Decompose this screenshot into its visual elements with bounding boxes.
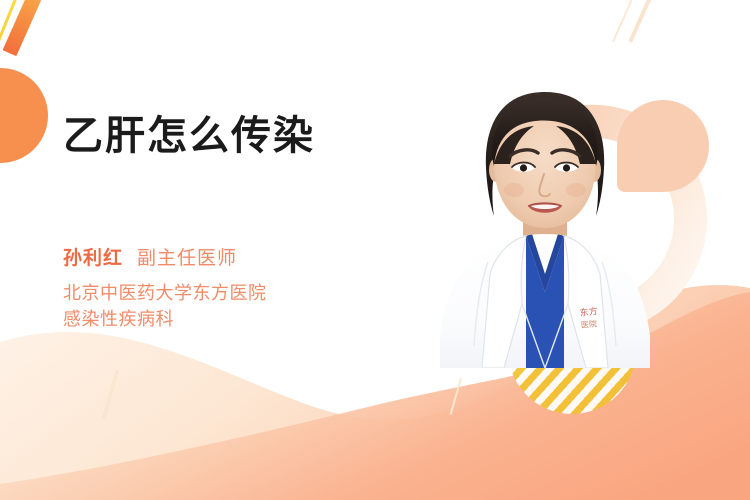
faint-diagonal-line-icon	[628, 0, 663, 43]
hairline-diagonal-icon	[102, 370, 119, 419]
doctor-affiliation: 北京中医药大学东方医院 感染性疾病科	[63, 281, 267, 332]
svg-text:东方: 东方	[579, 305, 598, 318]
doctor-credit-line: 孙利红副主任医师	[63, 249, 267, 268]
doctor-portrait: 东方 医院	[430, 78, 660, 368]
solid-orange-circle-icon	[0, 68, 48, 163]
orange-diagonal-bar-icon	[3, 0, 54, 56]
page-title: 乙肝怎么传染	[63, 113, 315, 159]
doctor-name: 孙利红	[63, 248, 123, 269]
yellow-diagonal-line-icon	[0, 0, 31, 82]
byline-block: 孙利红副主任医师 北京中医药大学东方医院 感染性疾病科	[63, 249, 267, 332]
doctor-video-cover-card: 东方 医院 乙	[0, 0, 750, 500]
hairline-diagonal-icon	[450, 378, 462, 415]
title-block: 乙肝怎么传染	[63, 113, 315, 159]
doctor-rank: 副主任医师	[137, 248, 237, 269]
svg-text:医院: 医院	[580, 318, 597, 330]
faint-diagonal-line-icon	[612, 0, 645, 42]
